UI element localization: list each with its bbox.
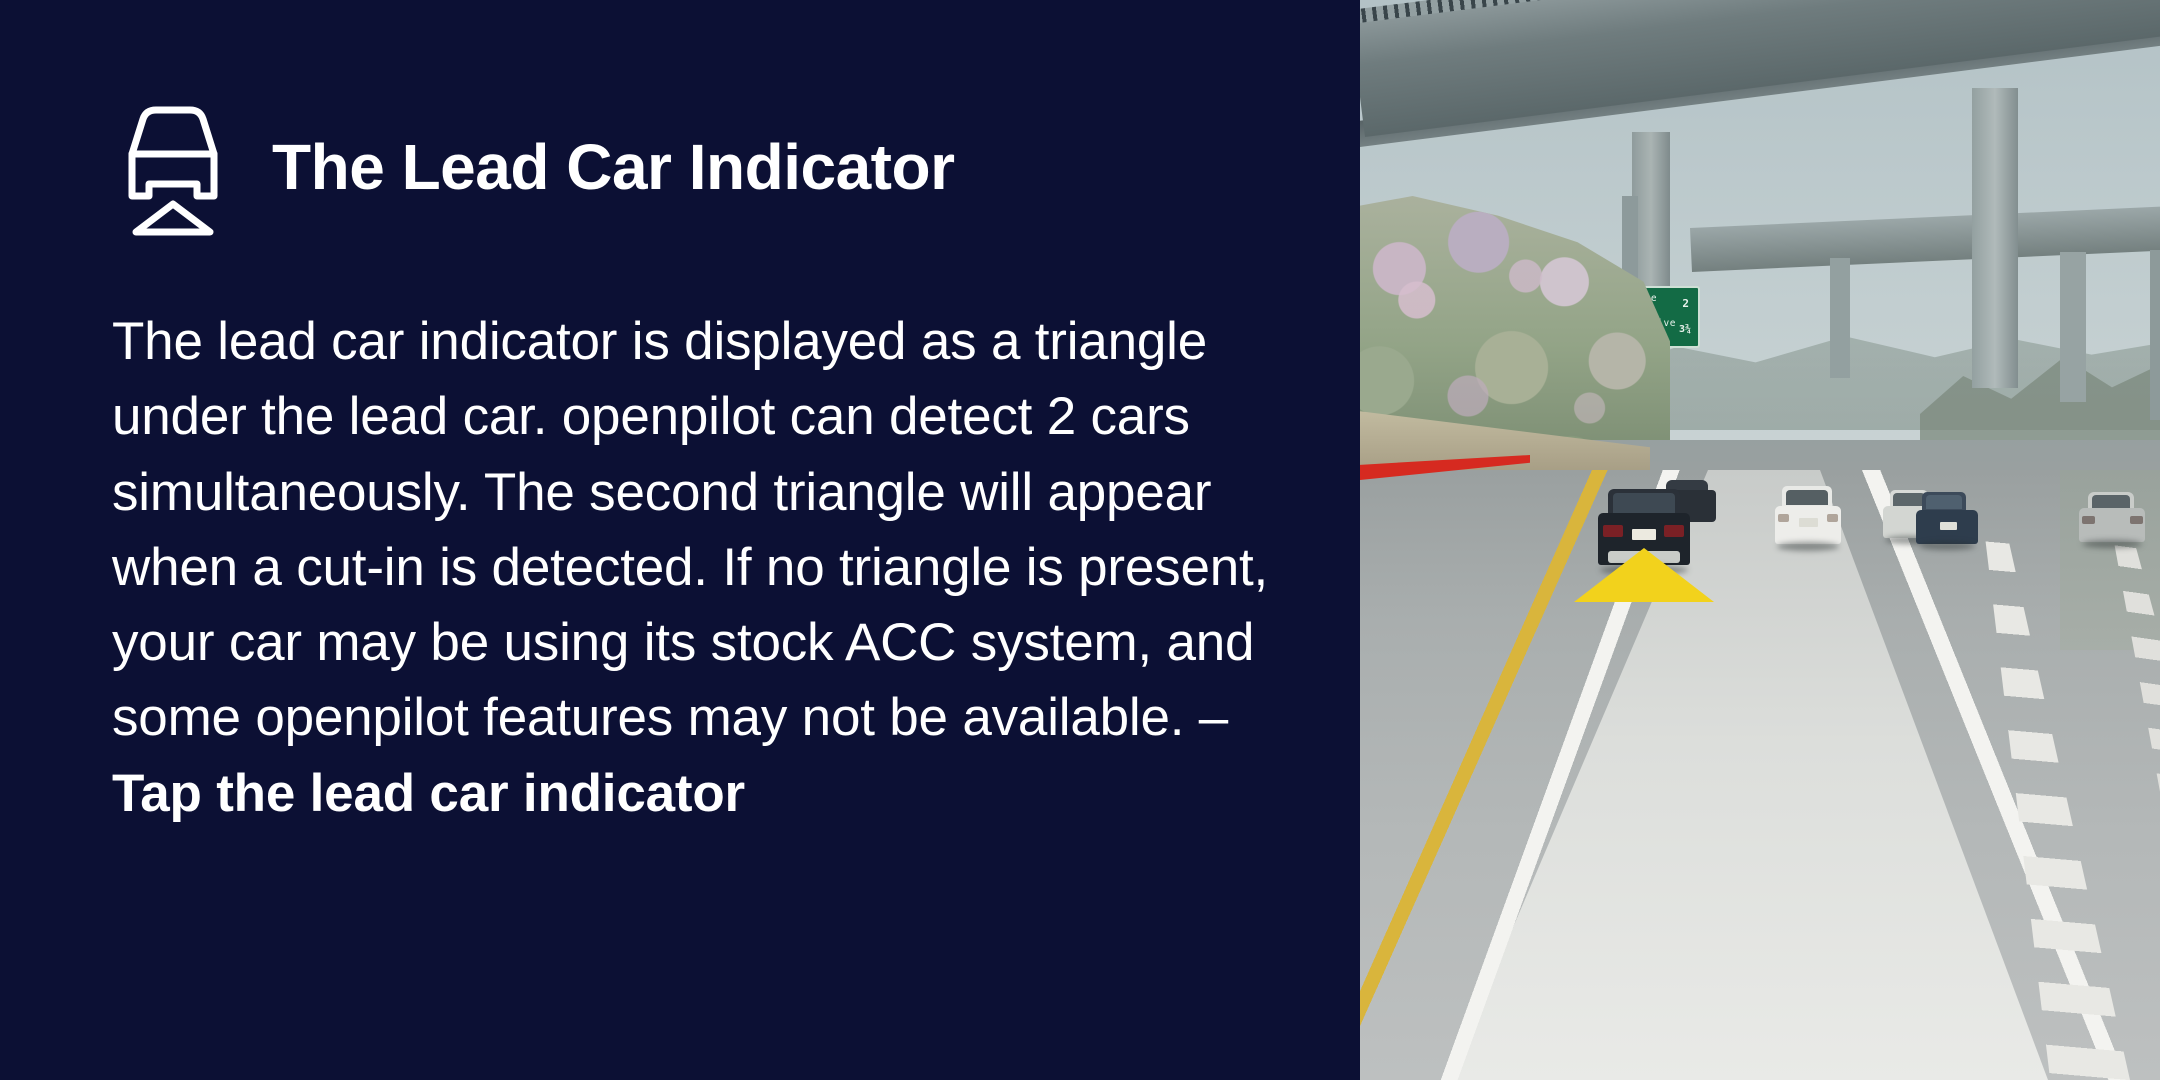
blue-pickup	[1916, 492, 1980, 550]
lead-car-indicator-slide: The Lead Car Indicator The lead car indi…	[0, 0, 2160, 1080]
lower-overpass-column	[2060, 252, 2086, 402]
highway-camera-photo: Balboa Avenue Garnet Avenue Clairemont D…	[1360, 0, 2160, 1080]
panel-body-text: The lead car indicator is displayed as a…	[112, 304, 1272, 831]
info-panel: The Lead Car Indicator The lead car indi…	[0, 0, 1360, 1080]
lower-overpass-column	[1830, 258, 1850, 378]
sign-exit-distance-2: 3¾	[1679, 324, 1691, 335]
panel-header: The Lead Car Indicator	[112, 92, 1270, 242]
upper-overpass-column	[1972, 88, 2018, 388]
body-text-bold-cta: Tap the lead car indicator	[112, 764, 745, 823]
silver-suv-right	[2078, 492, 2146, 550]
page-title: The Lead Car Indicator	[272, 135, 954, 199]
lead-car-indicator-triangle[interactable]	[1574, 548, 1714, 602]
lower-overpass-column	[2150, 250, 2160, 420]
sign-exit-distance-1: 2	[1682, 297, 1689, 310]
lead-car-indicator-icon	[112, 92, 234, 242]
body-text-regular: The lead car indicator is displayed as a…	[112, 312, 1268, 747]
white-suv	[1774, 486, 1842, 550]
